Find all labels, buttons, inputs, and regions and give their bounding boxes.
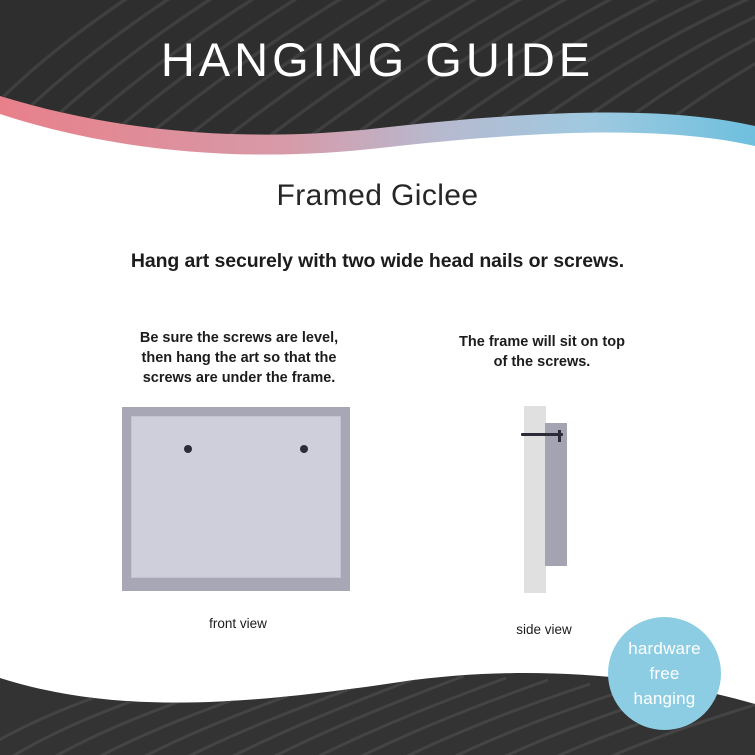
side-view-screw-head-icon [558,430,561,442]
side-view-label: side view [455,621,633,639]
lead-instruction: Hang art securely with two wide head nai… [0,247,755,275]
hardware-free-badge: hardware free hanging [608,617,721,730]
side-view-screw-icon [521,433,563,436]
front-view-label: front view [142,615,334,633]
front-view-caption-line-2: then hang the art so that the [108,348,370,368]
side-view-caption: The frame will sit on top of the screws. [438,332,646,372]
header-banner: HANGING GUIDE [0,0,755,165]
badge-line-1: hardware [628,636,700,661]
side-view-frame [545,423,567,566]
screw-dot-right-icon [300,445,308,453]
product-title: Framed Giclee [0,176,755,216]
badge-line-3: hanging [634,686,696,711]
front-view-diagram [122,407,350,591]
side-view-caption-line-1: The frame will sit on top [438,332,646,352]
side-view-diagram [524,406,594,596]
front-view-caption-line-1: Be sure the screws are level, [108,328,370,348]
screw-dot-left-icon [184,445,192,453]
hanging-guide-page: HANGING GUIDE Framed Giclee Hang art sec… [0,0,755,755]
side-view-caption-line-2: of the screws. [438,352,646,372]
badge-line-2: free [649,661,679,686]
front-view-mat [132,417,340,577]
page-title: HANGING GUIDE [0,32,755,88]
front-view-caption: Be sure the screws are level, then hang … [108,328,370,388]
front-view-caption-line-3: screws are under the frame. [108,368,370,388]
